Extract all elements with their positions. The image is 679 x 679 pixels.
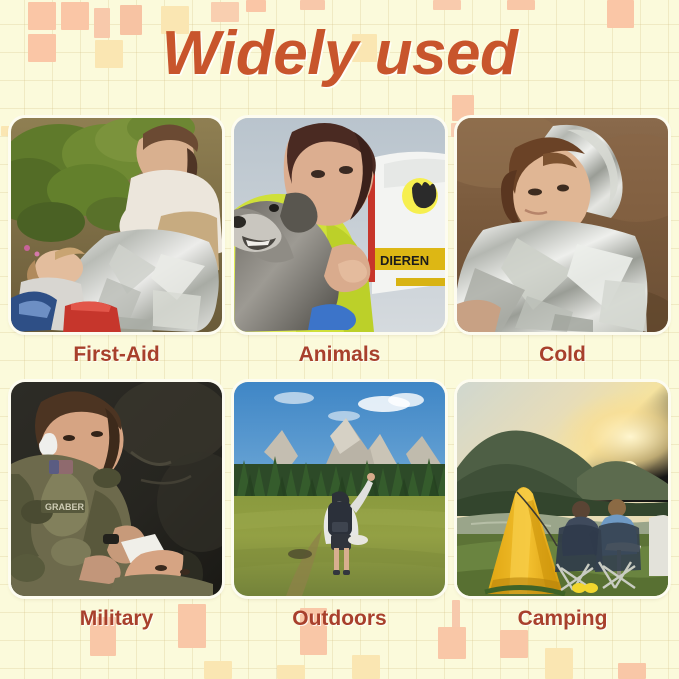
cold-photo — [457, 118, 668, 332]
animals-photo: DIEREN — [234, 118, 445, 332]
decorative-square — [438, 627, 466, 659]
decorative-square — [246, 0, 266, 12]
decorative-square — [500, 630, 528, 658]
card-caption: First-Aid — [11, 343, 222, 367]
outdoors-illustration — [234, 382, 445, 596]
decorative-square — [618, 663, 646, 679]
usage-card-cold[interactable]: Cold — [457, 118, 668, 367]
decorative-square — [352, 655, 380, 679]
camping-photo — [457, 382, 668, 596]
decorative-square — [507, 0, 535, 10]
decorative-square — [1, 126, 11, 136]
decorative-square — [300, 0, 325, 10]
card-caption: Cold — [457, 343, 668, 367]
usage-card-military[interactable]: GRABER Milita — [11, 382, 222, 631]
decorative-square — [204, 661, 232, 679]
usage-card-animals[interactable]: DIEREN — [234, 118, 445, 367]
outdoors-photo — [234, 382, 445, 596]
card-caption: Camping — [457, 607, 668, 631]
card-caption: Outdoors — [234, 607, 445, 631]
decorative-square — [277, 665, 305, 679]
card-caption: Military — [11, 607, 222, 631]
first-aid-illustration — [11, 118, 222, 332]
svg-text:GRABER: GRABER — [45, 502, 85, 512]
decorative-square — [545, 648, 573, 679]
usage-card-camping[interactable]: Camping — [457, 382, 668, 631]
military-photo: GRABER — [11, 382, 222, 596]
card-caption: Animals — [234, 343, 445, 367]
usage-card-first-aid[interactable]: First-Aid — [11, 118, 222, 367]
camping-illustration — [457, 382, 668, 596]
cold-illustration — [457, 118, 668, 332]
poster-page: Widely used — [0, 0, 679, 679]
page-title: Widely used — [0, 20, 679, 88]
svg-text:DIEREN: DIEREN — [380, 253, 429, 268]
animals-illustration: DIEREN — [234, 118, 445, 332]
usage-card-outdoors[interactable]: Outdoors — [234, 382, 445, 631]
first-aid-photo — [11, 118, 222, 332]
military-illustration: GRABER — [11, 382, 222, 596]
decorative-square — [433, 0, 461, 10]
usage-card-grid: First-Aid — [11, 118, 668, 631]
